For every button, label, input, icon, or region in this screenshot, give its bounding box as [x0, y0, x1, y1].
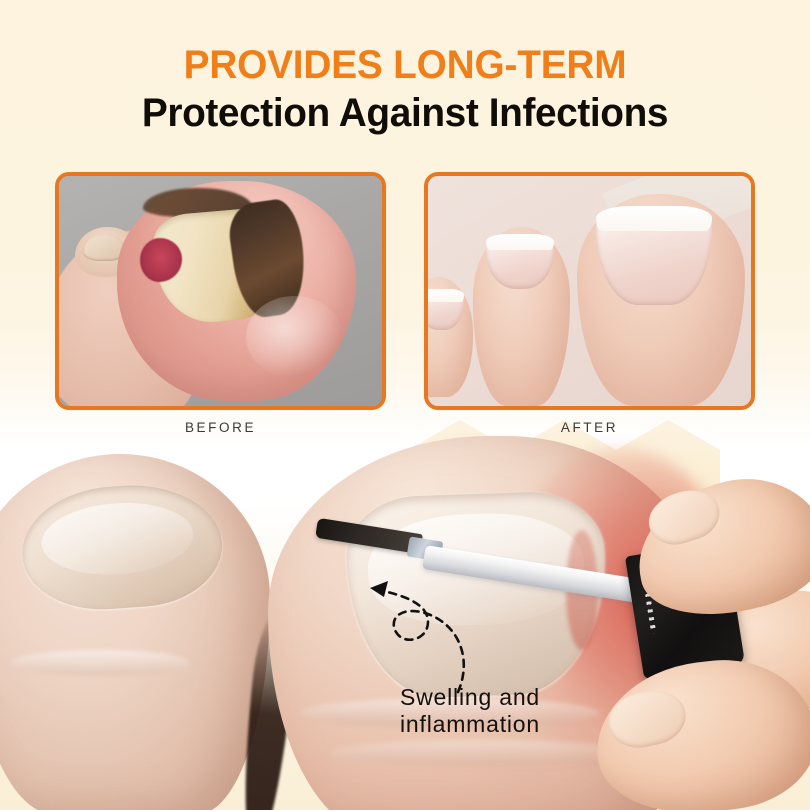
- before-photo-frame: [55, 172, 386, 410]
- annotation-arrow: [340, 552, 540, 702]
- after-card: AFTER: [424, 172, 755, 435]
- arrowhead: [370, 581, 388, 597]
- before-photo: [59, 176, 382, 406]
- before-after-row: BEFORE AFTER: [0, 172, 810, 422]
- after-photo: [428, 176, 751, 406]
- headline-line-2: Protection Against Infections: [12, 89, 798, 137]
- big-toe-crease-2: [330, 740, 630, 766]
- annotation-text: Swelling and inflammation: [370, 684, 570, 738]
- headline-line-1: PROVIDES LONG-TERM: [12, 44, 798, 86]
- poster-canvas: PROVIDES LONG-TERM Protection Against In…: [0, 0, 810, 810]
- page-title: PROVIDES LONG-TERM Protection Against In…: [0, 44, 810, 137]
- after-photo-frame: [424, 172, 755, 410]
- after-label: AFTER: [424, 420, 755, 435]
- before-card: BEFORE: [55, 172, 386, 435]
- before-label: BEFORE: [55, 420, 386, 435]
- toe-crease: [10, 650, 190, 676]
- annotation-callout: Swelling and inflammation: [370, 684, 570, 738]
